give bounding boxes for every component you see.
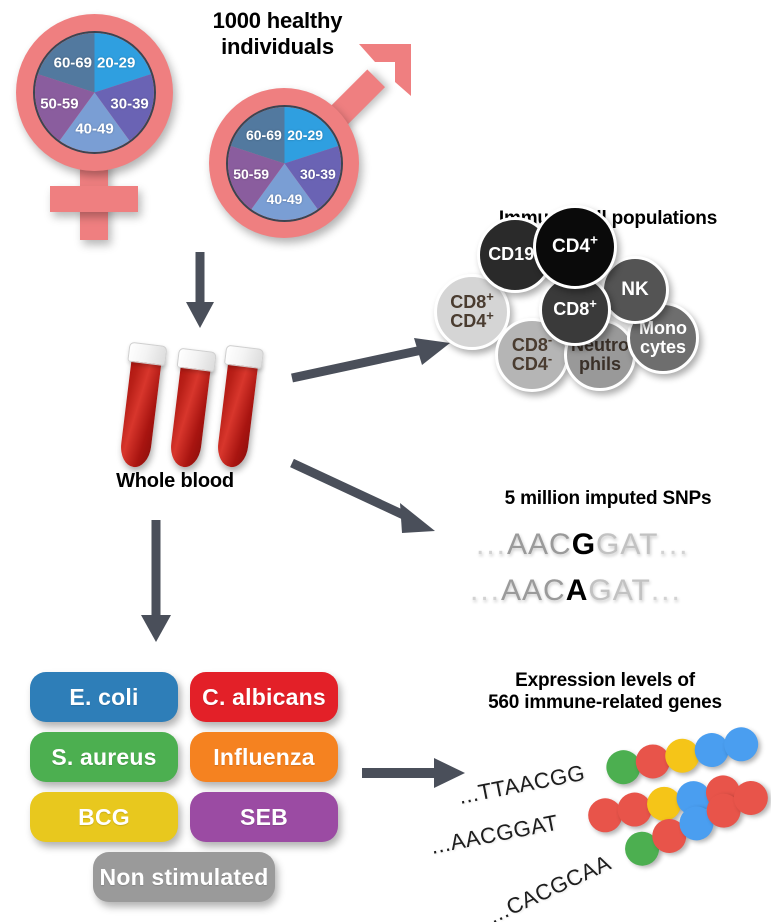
age-label-50-59: 50-59: [40, 95, 78, 112]
expression-strands: ...TTAACGG...AACGGAT...CACGCAA: [440, 720, 771, 920]
stimulation-pill-seb[interactable]: SEB: [190, 792, 338, 842]
age-label-40-49: 40-49: [75, 121, 113, 138]
snp-ellipsis-left: ...: [476, 528, 507, 561]
age-label-20-29: 20-29: [97, 54, 135, 71]
snp-sequence-row: ...AACAGAT...: [470, 574, 682, 608]
expression-strand-sequence: ...AACGGAT: [429, 810, 561, 860]
stimulation-pill-label: Influenza: [213, 744, 314, 771]
age-label-50-59: 50-59: [233, 166, 269, 182]
age-label-30-39: 30-39: [300, 166, 336, 182]
snp-variant-base: A: [566, 574, 589, 607]
expression-strand-sequence: ...CACGCAA: [484, 850, 615, 922]
snp-variant-base: G: [572, 528, 596, 561]
arrow-blood-to-snps: [290, 455, 450, 550]
immune-cell-label: CD8+CD4+: [450, 293, 494, 331]
expression-strand-sequence: ...TTAACGG: [457, 760, 588, 810]
stimulation-pill-influenza[interactable]: Influenza: [190, 732, 338, 782]
snp-sequences: ...AACGGAT......AACAGAT...: [470, 528, 750, 618]
stimulation-pill-e-coli[interactable]: E. coli: [30, 672, 178, 722]
whole-blood-label: Whole blood: [60, 470, 290, 494]
expression-title-line2: 560 immune-related genes: [440, 692, 770, 714]
snp-sequence-row: ...AACGGAT...: [476, 528, 690, 562]
diagram-canvas: 1000 healthy individuals 20-2930-3940-49…: [0, 0, 771, 922]
immune-cell-label: Monocytes: [639, 319, 687, 357]
expression-bead-blue: [721, 724, 761, 764]
age-label-60-69: 60-69: [54, 54, 92, 71]
stimulation-pill-label: S. aureus: [51, 744, 156, 771]
snp-ellipsis-right: ...: [659, 528, 690, 561]
immune-cell-label: NK: [621, 280, 648, 300]
immune-cell-label: CD4+: [552, 237, 598, 257]
age-label-30-39: 30-39: [110, 95, 148, 112]
age-label-60-69: 60-69: [246, 127, 282, 143]
expression-title-line1: Expression levels of: [440, 670, 770, 692]
expression-section-title: Expression levels of 560 immune-related …: [440, 670, 770, 715]
arrow-blood-to-stimulation: [138, 520, 174, 645]
stimulation-pill-label: Non stimulated: [100, 864, 269, 891]
stimulation-panel: E. coliC. albicansS. aureusInfluenzaBCGS…: [30, 672, 350, 902]
immune-cell-label: CD8+: [553, 300, 597, 319]
stimulation-pill-s-aureus[interactable]: S. aureus: [30, 732, 178, 782]
snp-ellipsis-right: ...: [651, 574, 682, 607]
stimulation-pill-label: E. coli: [69, 684, 138, 711]
stimulation-pill-label: BCG: [78, 804, 130, 831]
snp-suffix: GAT: [588, 574, 650, 607]
snp-ellipsis-left: ...: [470, 574, 501, 607]
immune-cell-label: CD8-CD4-: [512, 336, 552, 374]
stimulation-pill-label: C. albicans: [202, 684, 326, 711]
stimulation-pill-label: SEB: [240, 804, 288, 831]
snps-section-title: 5 million imputed SNPs: [448, 488, 768, 510]
stimulation-pill-c-albicans[interactable]: C. albicans: [190, 672, 338, 722]
snp-suffix: GAT: [596, 528, 658, 561]
age-label-20-29: 20-29: [287, 127, 323, 143]
snp-prefix: AAC: [507, 528, 572, 561]
stimulation-pill-bcg[interactable]: BCG: [30, 792, 178, 842]
immune-cell-cd4[interactable]: CD4+: [533, 205, 617, 289]
stimulation-pill-non-stimulated[interactable]: Non stimulated: [93, 852, 275, 902]
snp-prefix: AAC: [501, 574, 566, 607]
age-label-40-49: 40-49: [267, 191, 303, 207]
